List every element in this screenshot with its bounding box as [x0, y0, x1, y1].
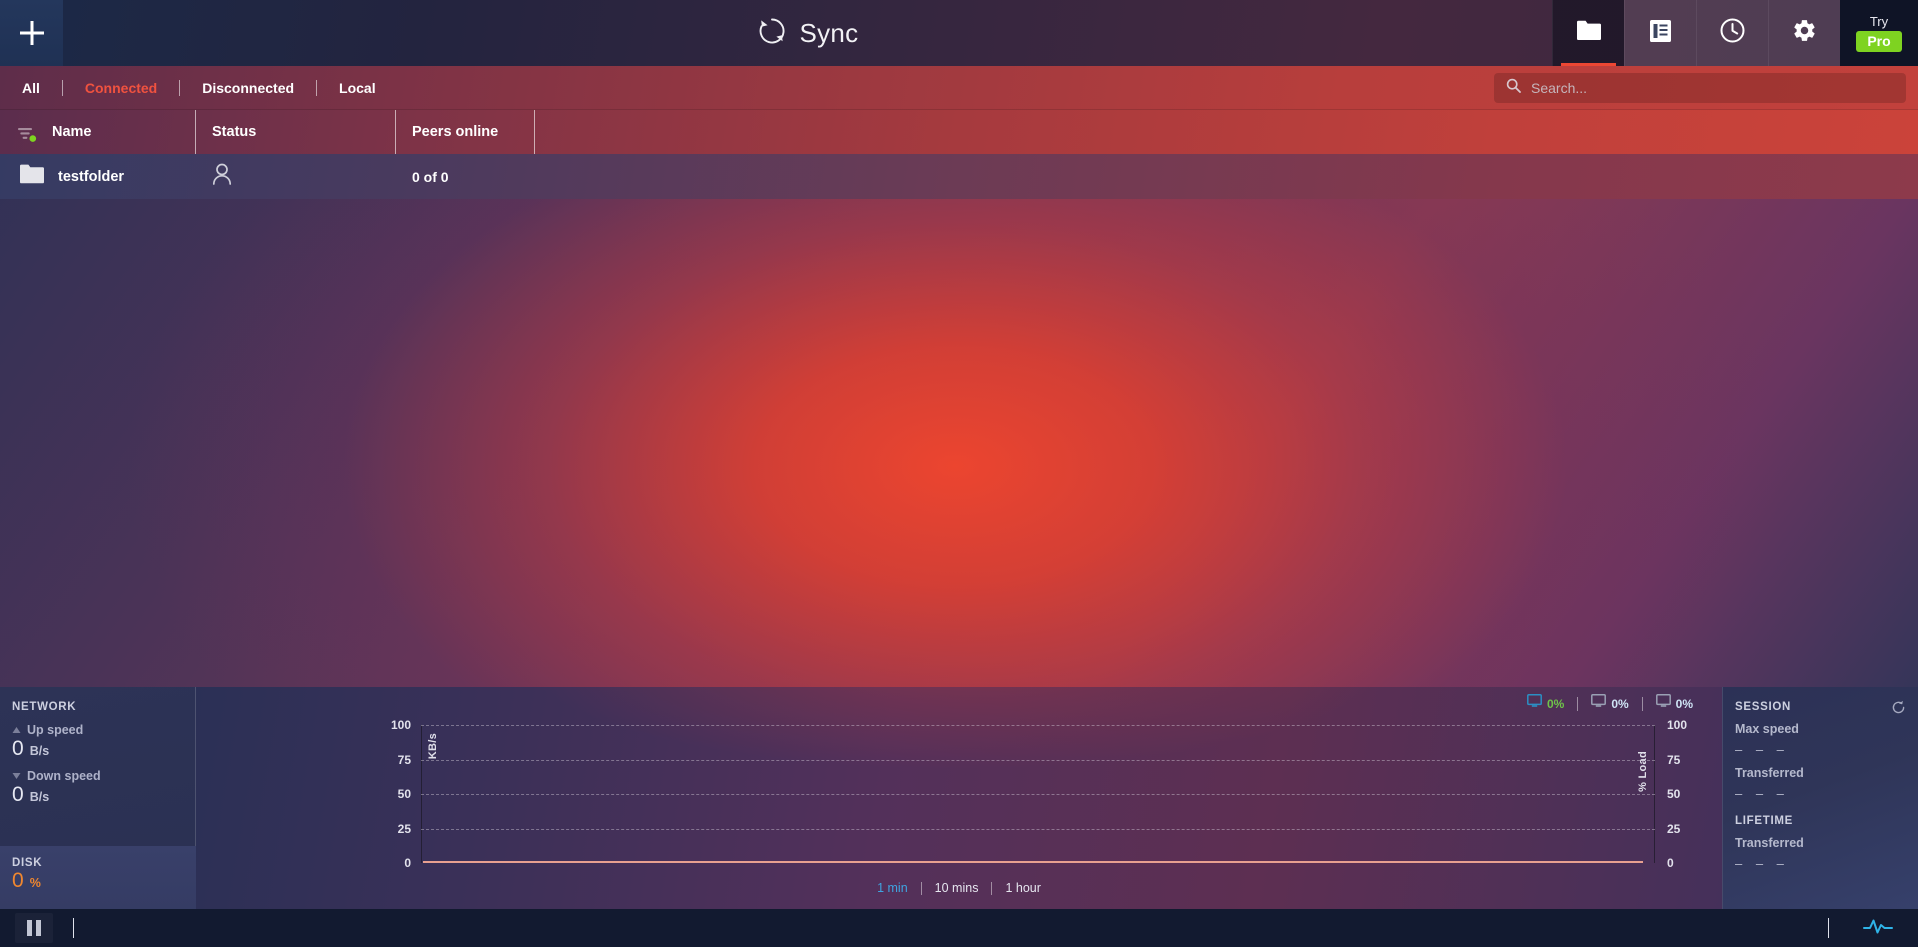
lifetime-transferred-label: Transferred [1735, 836, 1918, 850]
cpu-meter-2-value: 0% [1611, 697, 1628, 711]
gear-icon [1792, 18, 1817, 48]
sync-app-window: Sync [0, 0, 1918, 947]
bottom-stats-area: NETWORK Up speed 0 B/s Down speed 0 B/s [0, 687, 1918, 909]
try-pro-button[interactable]: Try Pro [1840, 0, 1918, 66]
top-toolbar: Sync [0, 0, 1918, 66]
y-tick-left-25: 25 [398, 822, 411, 836]
gridline [421, 725, 1655, 726]
disk-unit: % [30, 876, 41, 890]
app-title: Sync [799, 18, 858, 49]
reset-icon[interactable] [1891, 700, 1906, 720]
y-tick-right-25: 25 [1667, 822, 1680, 836]
table-row[interactable]: testfolder 0 of 0 [0, 154, 1918, 199]
cell-status [196, 154, 396, 199]
pause-icon [27, 920, 32, 936]
disk-panel: DISK 0 % [0, 846, 196, 909]
down-speed-value-row: 0 B/s [0, 784, 195, 805]
time-range-selector: 1 min 10 mins 1 hour [196, 881, 1722, 895]
devices-icon-button[interactable] [1624, 0, 1696, 66]
y-tick-left-50: 50 [398, 787, 411, 801]
lifetime-title: LIFETIME [1735, 801, 1918, 827]
monitor-icon [1591, 694, 1606, 713]
monitor-icon [1656, 694, 1671, 713]
filter-tab-local[interactable]: Local [317, 80, 398, 96]
time-range-1hour[interactable]: 1 hour [992, 881, 1053, 895]
folder-icon [20, 164, 44, 189]
cpu-meter-3[interactable]: 0% [1643, 694, 1706, 713]
disk-panel-title: DISK [0, 846, 196, 869]
down-speed-value: 0 [12, 784, 24, 805]
up-speed-label: Up speed [27, 723, 83, 737]
clock-icon [1720, 18, 1745, 48]
chart-series-speed [423, 861, 1643, 863]
cell-name: testfolder [0, 154, 196, 199]
y-tick-right-50: 50 [1667, 787, 1680, 801]
up-speed-value-row: 0 B/s [0, 738, 195, 759]
divider [73, 918, 74, 938]
status-bar-right [1828, 915, 1918, 942]
network-panel: NETWORK Up speed 0 B/s Down speed 0 B/s [0, 687, 196, 909]
search-box[interactable] [1494, 73, 1906, 103]
session-panel: SESSION Max speed – – – Transferred – – … [1723, 687, 1918, 909]
device-list-icon [1650, 20, 1671, 47]
gridline [421, 794, 1655, 795]
session-transferred-value: – – – [1735, 786, 1918, 801]
app-brand: Sync [63, 0, 1552, 66]
up-speed-value: 0 [12, 738, 24, 759]
cpu-meter-1-value: 0% [1547, 697, 1564, 711]
lifetime-transferred-value: – – – [1735, 856, 1918, 871]
session-max-speed-label: Max speed [1735, 722, 1918, 736]
column-header-peers-online[interactable]: Peers online [396, 110, 535, 154]
settings-icon-button[interactable] [1768, 0, 1840, 66]
y-tick-right-75: 75 [1667, 753, 1680, 767]
pro-badge: Pro [1856, 31, 1901, 52]
up-speed-unit: B/s [30, 744, 49, 758]
try-label: Try [1870, 15, 1888, 28]
down-speed-unit: B/s [30, 790, 49, 804]
column-header-spacer [535, 110, 1918, 154]
filter-tab-all[interactable]: All [0, 80, 62, 96]
toolbar-icon-group: Try Pro [1552, 0, 1918, 66]
y-axis-right-title: % Load [1637, 751, 1649, 792]
y-tick-right-0: 0 [1667, 856, 1674, 870]
person-icon [212, 163, 232, 190]
table-header: Name Status Peers online [0, 110, 1918, 154]
filter-bar: All Connected Disconnected Local [0, 66, 1918, 110]
y-tick-left-100: 100 [391, 718, 411, 732]
add-folder-button[interactable] [0, 0, 63, 66]
session-transferred-label: Transferred [1735, 766, 1918, 780]
search-icon [1506, 78, 1521, 98]
network-chart-panel: 0% 0% [196, 687, 1723, 909]
y-tick-left-75: 75 [398, 753, 411, 767]
folder-icon [1577, 20, 1601, 46]
chart-plot-area: 100 75 50 25 0 100 75 50 25 0 KB/s % Loa… [421, 725, 1655, 863]
cell-peers-online: 0 of 0 [396, 154, 535, 199]
down-speed-label-row: Down speed [0, 769, 195, 783]
history-icon-button[interactable] [1696, 0, 1768, 66]
divider [1828, 918, 1829, 938]
time-range-1min[interactable]: 1 min [864, 881, 921, 895]
disk-value-row: 0 % [0, 870, 196, 891]
y-axis-left-title: KB/s [427, 733, 439, 759]
time-range-10mins[interactable]: 10 mins [922, 881, 992, 895]
gridline [421, 829, 1655, 830]
status-bar [0, 909, 1918, 947]
triangle-down-icon [12, 769, 21, 783]
filter-tab-disconnected[interactable]: Disconnected [180, 80, 316, 96]
activity-pulse-icon [1863, 915, 1893, 942]
cpu-meter-1[interactable]: 0% [1514, 694, 1577, 713]
y-tick-left-0: 0 [404, 856, 411, 870]
activity-pulse-button[interactable] [1863, 915, 1893, 942]
cpu-meter-2[interactable]: 0% [1578, 694, 1641, 713]
pause-icon-bar2 [36, 920, 41, 936]
monitor-icon [1527, 694, 1542, 713]
plus-icon [19, 20, 45, 46]
network-panel-title: NETWORK [0, 687, 195, 713]
cpu-meters: 0% 0% [1514, 694, 1706, 713]
session-max-speed-value: – – – [1735, 742, 1918, 757]
search-input[interactable] [1531, 80, 1894, 96]
filter-funnel-icon[interactable] [17, 126, 37, 149]
column-header-status[interactable]: Status [196, 110, 396, 154]
pause-button[interactable] [15, 913, 53, 943]
cpu-meter-3-value: 0% [1676, 697, 1693, 711]
triangle-up-icon [12, 723, 21, 737]
sync-circular-arrow-icon [756, 15, 788, 52]
y-tick-right-100: 100 [1667, 718, 1687, 732]
up-speed-label-row: Up speed [0, 723, 195, 737]
cell-name-label: testfolder [58, 169, 124, 185]
filter-tab-connected[interactable]: Connected [63, 80, 179, 96]
folders-icon-button[interactable] [1552, 0, 1624, 66]
down-speed-label: Down speed [27, 769, 101, 783]
disk-value: 0 [12, 870, 24, 891]
cell-peers-label: 0 of 0 [412, 169, 449, 185]
gridline [421, 760, 1655, 761]
